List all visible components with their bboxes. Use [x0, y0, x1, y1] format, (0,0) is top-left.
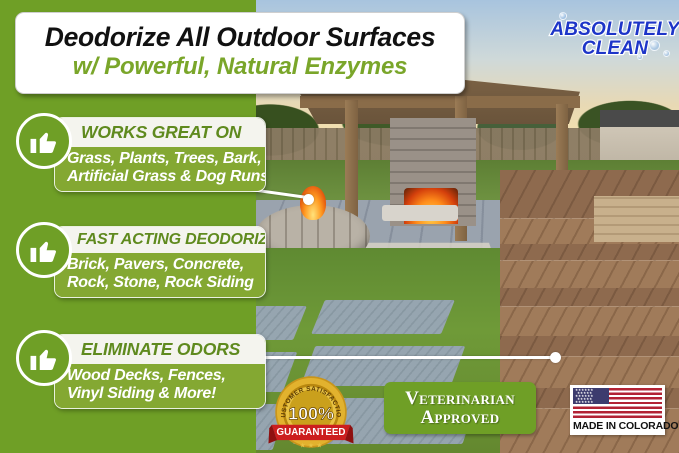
- satisfaction-guarantee-seal: CUSTOMER SATISFACTION 100% GUARANTEED ★ …: [268, 372, 354, 452]
- callout-title: WORKS GREAT ON: [55, 118, 265, 147]
- pavilion-beam: [300, 96, 580, 108]
- headline-line-1: Deodorize All Outdoor Surfaces: [45, 24, 436, 52]
- bubble-icon: [663, 50, 670, 57]
- callout-subtext: Grass, Plants, Trees, Bark, Artificial G…: [55, 147, 265, 191]
- made-in-colorado-badge: ★★★★★★ ★★★★★ ★★★★★★ ★★★★★ ★★★★★★ MADE IN…: [570, 385, 665, 435]
- callout-subtext-line-1: Brick, Pavers, Concrete,: [67, 256, 257, 274]
- callout-title: FAST ACTING DEODORIZER: [55, 227, 265, 253]
- vet-line-1: Veterinarian: [405, 389, 515, 408]
- flag-canton: ★★★★★★ ★★★★★ ★★★★★★ ★★★★★ ★★★★★★: [573, 388, 609, 404]
- absolutely-clean-logo: ABSOLUTELY CLEAN: [553, 10, 677, 68]
- advertisement-banner: Deodorize All Outdoor Surfaces w/ Powerf…: [0, 0, 679, 453]
- callout-subtext-line-2: Artificial Grass & Dog Runs: [67, 168, 257, 186]
- callout-connector-line: [236, 356, 556, 359]
- us-flag-icon: ★★★★★★ ★★★★★ ★★★★★★ ★★★★★ ★★★★★★: [573, 388, 662, 418]
- callout-subtext: Brick, Pavers, Concrete, Rock, Stone, Ro…: [55, 253, 265, 297]
- bubble-icon: [649, 40, 660, 51]
- vet-line-2: Approved: [421, 408, 500, 427]
- seal-stars: ★ ★ ★: [300, 442, 323, 450]
- thumbs-up-icon: [16, 222, 72, 278]
- callout-connector-dot: [550, 352, 561, 363]
- callout-box: WORKS GREAT ON Grass, Plants, Trees, Bar…: [54, 117, 266, 192]
- callout-box: ELIMINATE ODORS Wood Decks, Fences, Viny…: [54, 334, 266, 409]
- deck-step: [500, 306, 679, 336]
- seal-banner-text: GUARANTEED: [277, 427, 346, 438]
- thumbs-up-icon: [16, 113, 72, 169]
- callout-subtext-line-1: Grass, Plants, Trees, Bark,: [67, 150, 257, 168]
- callout-connector-dot: [303, 194, 314, 205]
- callout-subtext-line-1: Wood Decks, Fences,: [67, 367, 257, 385]
- made-in-label: MADE IN COLORADO: [573, 420, 662, 432]
- callout-box: FAST ACTING DEODORIZER Brick, Pavers, Co…: [54, 226, 266, 298]
- callout-subtext: Wood Decks, Fences, Vinyl Siding & More!: [55, 364, 265, 408]
- veterinarian-approved-badge: Veterinarian Approved: [384, 382, 536, 434]
- headline-banner: Deodorize All Outdoor Surfaces w/ Powerf…: [15, 12, 465, 94]
- callout-title: ELIMINATE ODORS: [55, 335, 265, 364]
- deck-bench: [594, 196, 679, 242]
- callout-subtext-line-2: Vinyl Siding & More!: [67, 385, 257, 403]
- bubble-icon: [637, 54, 643, 60]
- headline-line-2: w/ Powerful, Natural Enzymes: [73, 54, 408, 80]
- stepping-stone: [311, 300, 455, 334]
- seal-percent: 100%: [288, 404, 334, 424]
- deck-step: [500, 260, 679, 288]
- patio-table: [382, 205, 458, 221]
- thumbs-up-icon: [16, 330, 72, 386]
- brand-line-1: ABSOLUTELY: [550, 20, 679, 39]
- bubble-icon: [559, 12, 567, 20]
- callout-subtext-line-2: Rock, Stone, Rock Siding: [67, 274, 257, 292]
